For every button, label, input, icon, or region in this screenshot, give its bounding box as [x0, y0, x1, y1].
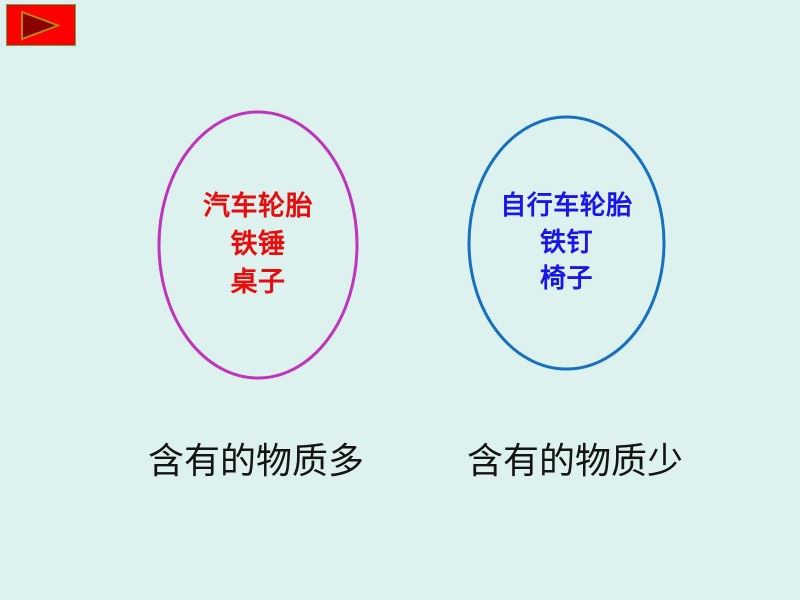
slide-canvas: 汽车轮胎 铁锤 桌子 自行车轮胎 铁钉 椅子 含有的物质多 含有的物质少	[0, 0, 800, 600]
caption-left: 含有的物质多	[148, 432, 364, 484]
group-right-line-1: 自行车轮胎	[500, 188, 633, 225]
group-left: 汽车轮胎 铁锤 桌子	[157, 109, 359, 381]
caption-right: 含有的物质少	[467, 432, 683, 484]
group-right-line-2: 铁钉	[540, 225, 593, 262]
group-right-line-3: 椅子	[540, 261, 593, 298]
group-right: 自行车轮胎 铁钉 椅子	[467, 115, 666, 371]
group-left-line-2: 铁锤	[231, 226, 286, 264]
group-left-text: 汽车轮胎 铁锤 桌子	[157, 109, 359, 385]
play-triangle-icon	[20, 10, 60, 41]
play-button[interactable]	[6, 4, 76, 46]
group-right-text: 自行车轮胎 铁钉 椅子	[467, 115, 666, 373]
group-left-line-1: 汽车轮胎	[203, 188, 313, 226]
play-triangle-svg	[20, 10, 60, 41]
group-left-line-3: 桌子	[231, 264, 286, 302]
